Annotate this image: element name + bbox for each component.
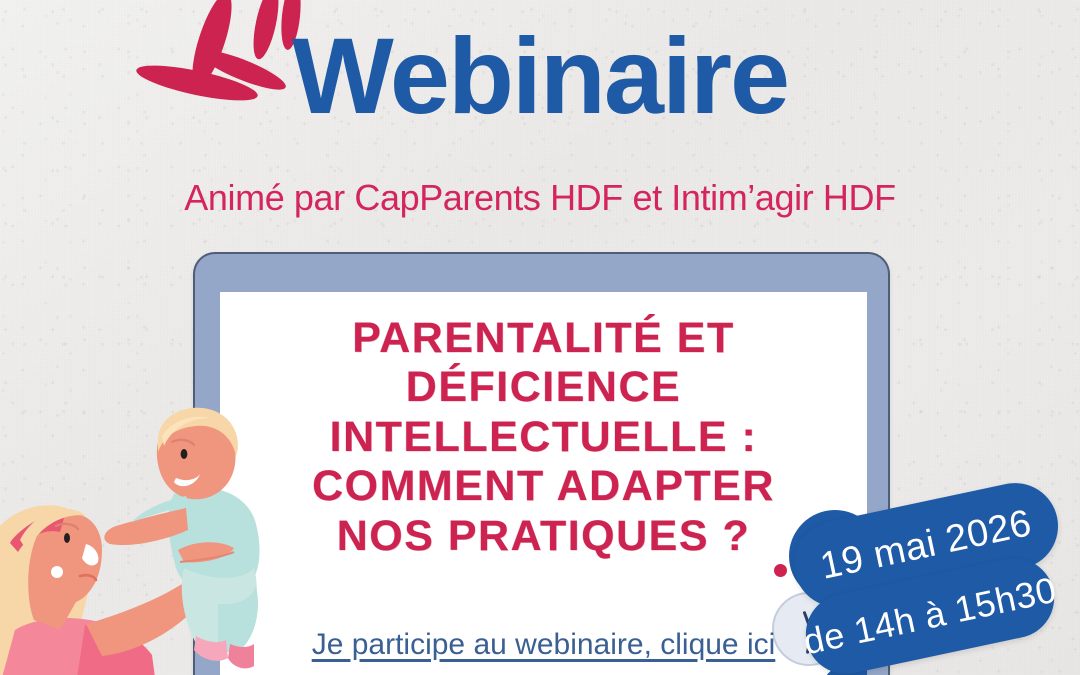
topic-line-5: NOS PRATIQUES ?	[220, 512, 867, 561]
webinar-topic-title: PARENTALITÉ ET DÉFICIENCE INTELLECTUELLE…	[220, 314, 867, 561]
webinar-signup-link[interactable]: Je participe au webinaire, clique ici	[220, 628, 867, 662]
mother-lifting-child-illustration	[0, 400, 290, 675]
topic-line-4: COMMENT ADAPTER	[220, 462, 867, 511]
page-subtitle: Animé par CapParents HDF et Intim’agir H…	[0, 178, 1080, 218]
tablet-device: PARENTALITÉ ET DÉFICIENCE INTELLECTUELLE…	[193, 252, 890, 675]
topic-line-1: PARENTALITÉ ET	[220, 314, 867, 363]
topic-line-2: DÉFICIENCE	[220, 363, 867, 412]
topic-line-3: INTELLECTUELLE :	[220, 413, 867, 462]
page-title: Webinaire	[0, 22, 1080, 130]
tablet-screen: PARENTALITÉ ET DÉFICIENCE INTELLECTUELLE…	[220, 292, 867, 675]
decorative-red-dot	[774, 564, 787, 577]
